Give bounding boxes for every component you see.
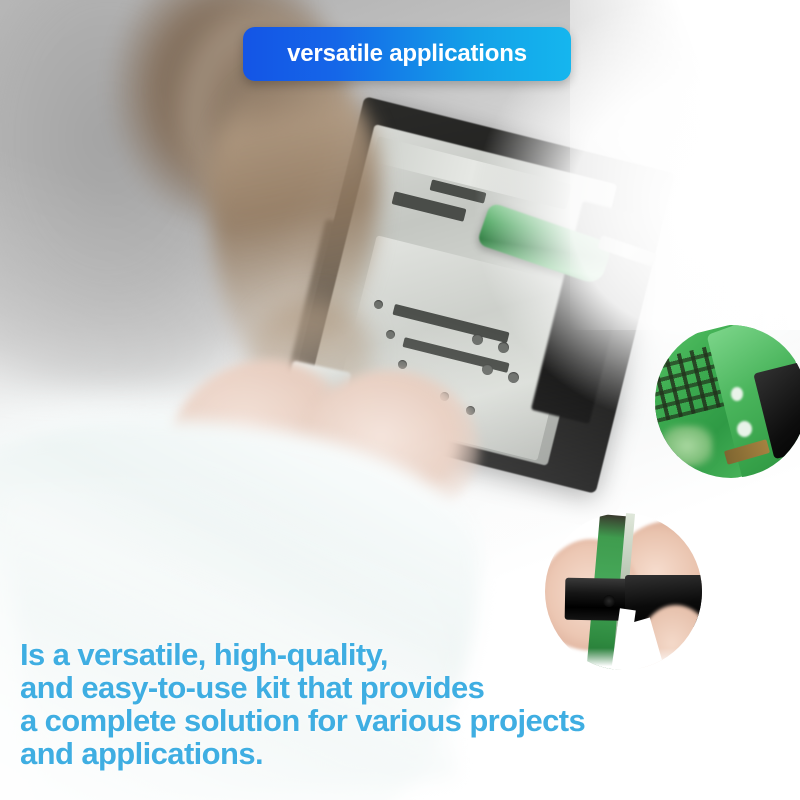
- headline-line-2: and easy-to-use kit that provides: [20, 671, 680, 704]
- photo-right-fade: [570, 0, 800, 330]
- inset-pcb-standoff-closeup: [655, 325, 800, 478]
- inset-2-screw-head: [603, 595, 615, 607]
- inset-1-mount-hole: [737, 421, 752, 437]
- product-marketing-image: versatile applications: [0, 0, 800, 800]
- headline-line-1: Is a versatile, high-quality,: [20, 638, 680, 671]
- versatile-applications-banner: versatile applications: [243, 27, 571, 81]
- inset-1-foreground-blur: [661, 425, 713, 467]
- inset-1-scene: [655, 325, 800, 478]
- headline-block: Is a versatile, high-quality, and easy-t…: [20, 638, 680, 770]
- headline-line-3: a complete solution for various projects: [20, 704, 680, 737]
- inset-1-mount-hole: [731, 387, 743, 401]
- headline-line-4: and applications.: [20, 737, 680, 770]
- banner-label: versatile applications: [287, 40, 527, 68]
